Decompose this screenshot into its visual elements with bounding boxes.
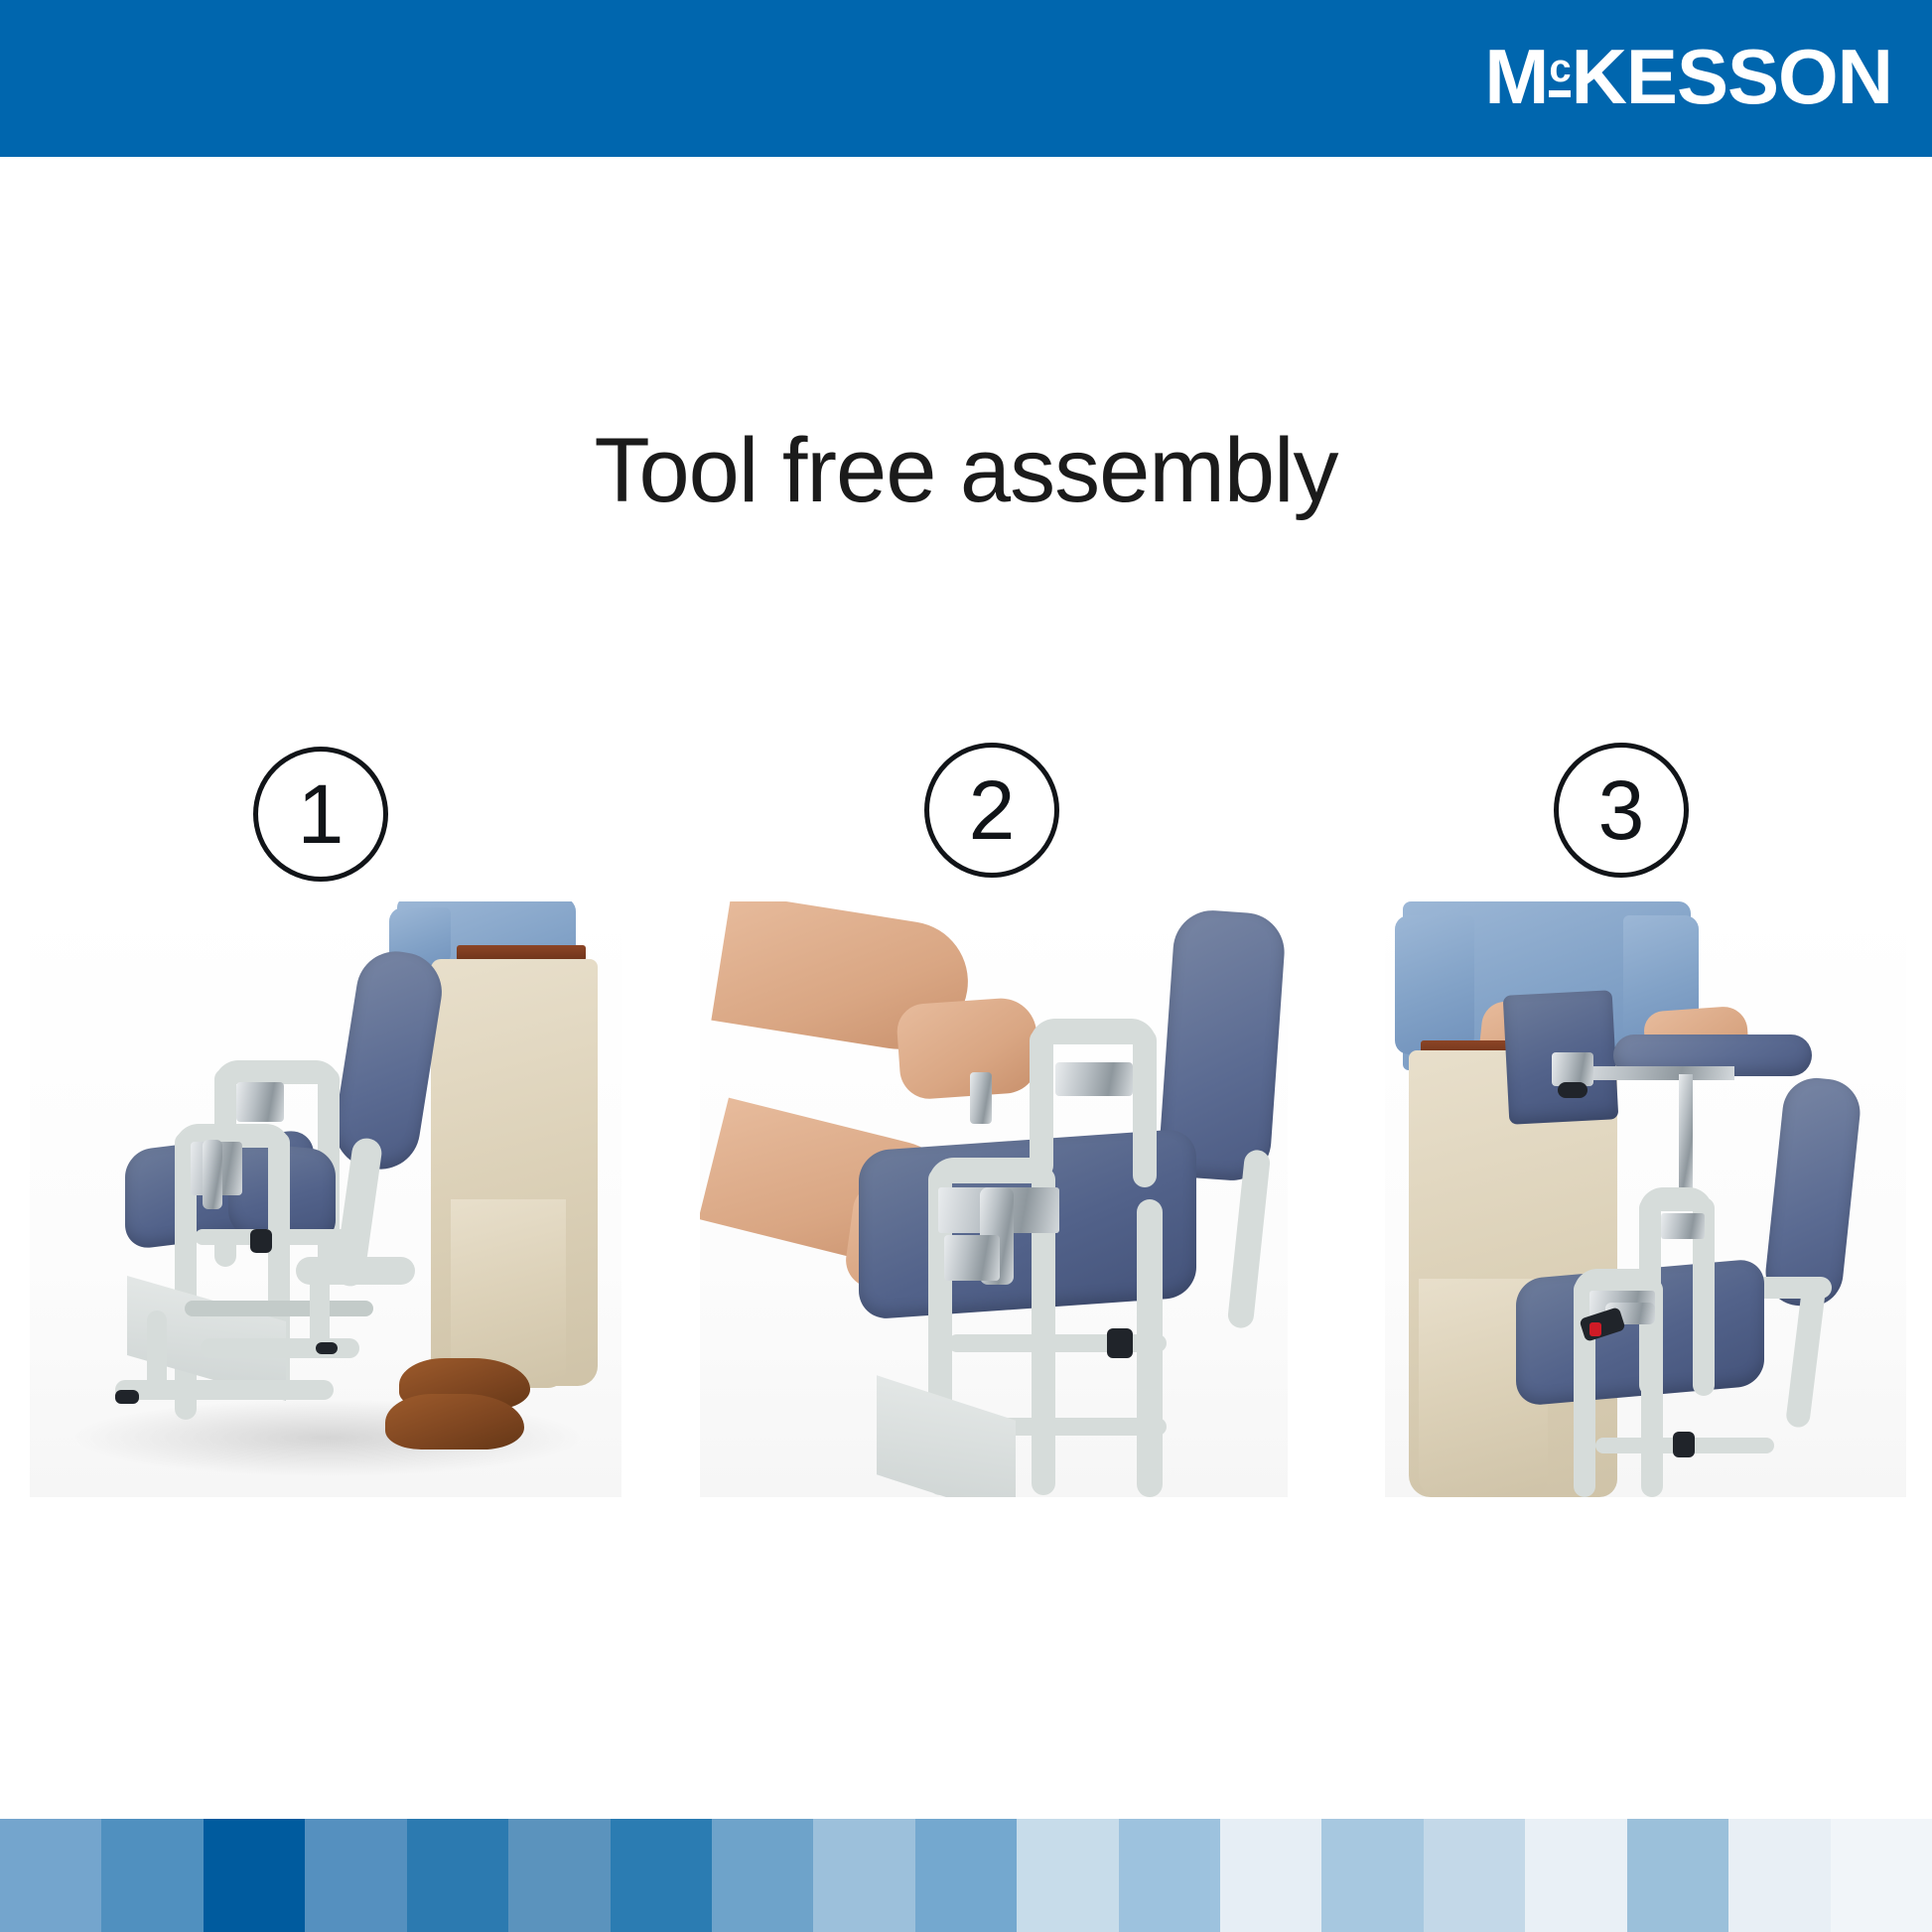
assembly-step-2: 2: [700, 743, 1288, 1497]
assembly-step-3: 3: [1385, 743, 1906, 1497]
step-number-badge-3: 3: [1554, 743, 1689, 878]
chair-leg-back: [310, 1271, 330, 1348]
chair-back-loop-right: [1133, 1029, 1157, 1187]
color-swatch-6: [508, 1819, 610, 1932]
chair-foot-cap-left: [115, 1390, 139, 1404]
color-swatch-5: [407, 1819, 508, 1932]
chair-black-clamp: [250, 1229, 272, 1253]
color-swatch-13: [1220, 1819, 1321, 1932]
color-swatch-8: [712, 1819, 813, 1932]
logo-letters-kesson: KESSON: [1572, 38, 1892, 115]
logo-superscript-c: c: [1549, 49, 1570, 97]
color-swatch-10: [915, 1819, 1017, 1932]
color-swatch-14: [1321, 1819, 1423, 1932]
chair-cross-bar-lower: [185, 1301, 373, 1316]
chair-cross-bar-upper: [195, 1229, 353, 1245]
armrest-bracket: [1552, 1052, 1593, 1086]
brand-color-swatch-strip: [0, 1819, 1932, 1932]
color-swatch-18: [1728, 1819, 1830, 1932]
assembly-steps: 1: [0, 743, 1932, 1517]
seat-pin: [203, 1140, 222, 1209]
person-shoe-front: [385, 1394, 524, 1449]
assembly-step-1: 1: [30, 743, 621, 1497]
step-3-badge-row: 3: [1385, 743, 1906, 901]
chair-side-rail: [1137, 1199, 1163, 1497]
lever-bracket: [944, 1235, 1000, 1281]
backrest-bracket-upper: [1055, 1062, 1133, 1096]
mckesson-logo: M c KESSON: [1484, 38, 1892, 119]
step-1-photo-attach-backrest: [30, 901, 621, 1497]
step-number-badge-2: 2: [924, 743, 1059, 878]
color-swatch-9: [813, 1819, 914, 1932]
chair-black-clamp: [1673, 1432, 1695, 1457]
color-swatch-11: [1017, 1819, 1118, 1932]
step-3-photo-attach-armrest: [1385, 901, 1906, 1497]
color-swatch-1: [0, 1819, 101, 1932]
step-number-badge-1: 1: [253, 747, 388, 882]
slide-root: M c KESSON Tool free assembly 1: [0, 0, 1932, 1932]
color-swatch-16: [1525, 1819, 1626, 1932]
step-2-badge-row: 2: [700, 743, 1288, 901]
brand-header-bar: M c KESSON: [0, 0, 1932, 157]
step-2-photo-insert-pin-and-lever: [700, 901, 1288, 1497]
color-swatch-3: [204, 1819, 305, 1932]
person-sleeve-left: [1395, 915, 1474, 1054]
step-1-badge-row: 1: [30, 743, 621, 901]
color-swatch-17: [1627, 1819, 1728, 1932]
color-swatch-4: [305, 1819, 406, 1932]
color-swatch-19: [1831, 1819, 1932, 1932]
chair-black-clamp: [1107, 1328, 1133, 1358]
backrest-bracket-upper: [1661, 1213, 1705, 1239]
color-swatch-7: [611, 1819, 712, 1932]
color-swatch-15: [1424, 1819, 1525, 1932]
assembly-pin: [970, 1072, 992, 1124]
page-title: Tool free assembly: [0, 419, 1932, 523]
logo-letter-m: M: [1484, 38, 1548, 115]
lever-red-marker: [1589, 1322, 1601, 1336]
chair-back-loop-left: [1030, 1029, 1053, 1177]
chair-foot-cap-right: [316, 1342, 338, 1354]
armrest-chrome-post: [1679, 1074, 1693, 1191]
backrest-bracket-upper: [236, 1082, 284, 1122]
armrest-knob: [1558, 1082, 1587, 1098]
chair-leg-front: [147, 1311, 167, 1394]
color-swatch-2: [101, 1819, 203, 1932]
chair-cross-bar-upper: [948, 1334, 1167, 1352]
person-hand-upper: [896, 996, 1040, 1101]
color-swatch-12: [1119, 1819, 1220, 1932]
